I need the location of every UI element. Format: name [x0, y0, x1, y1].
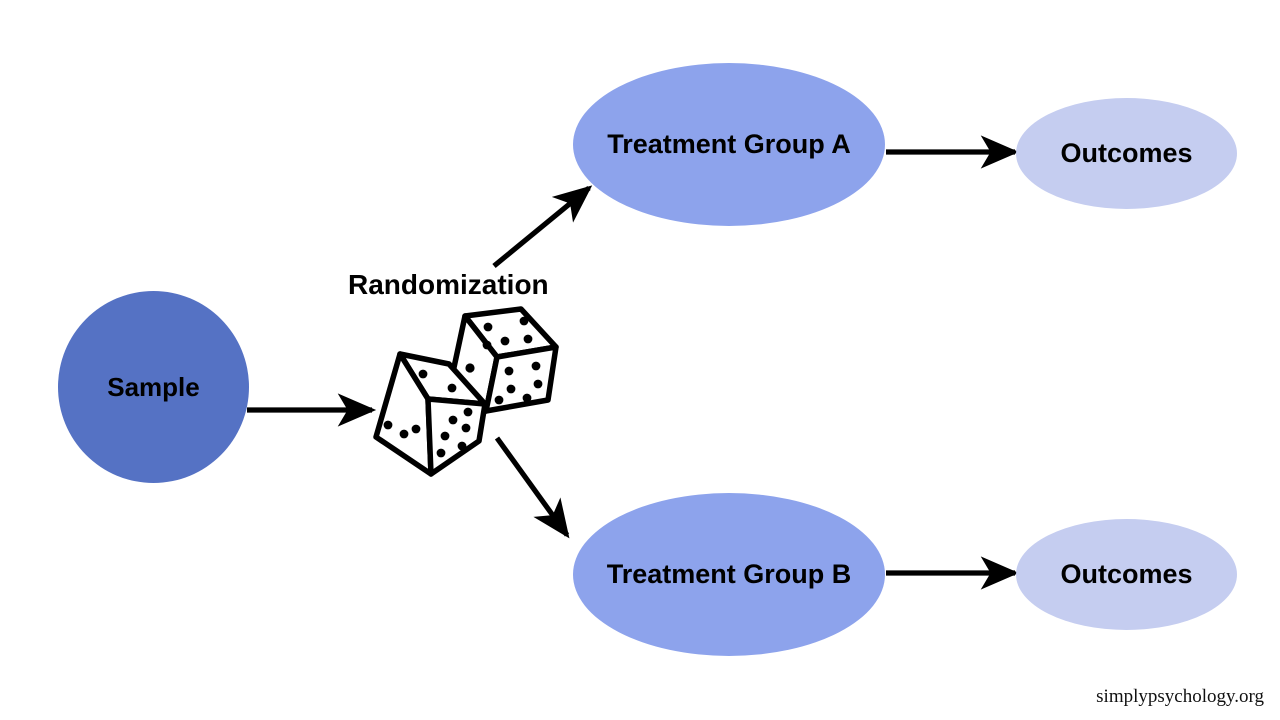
dice-icon[interactable]: [0, 0, 1280, 720]
watermark-simplypsychology: simplypsychology.org: [1096, 686, 1264, 708]
diagram-canvas: Sample Treatment Group A Treatment Group…: [0, 0, 1280, 720]
